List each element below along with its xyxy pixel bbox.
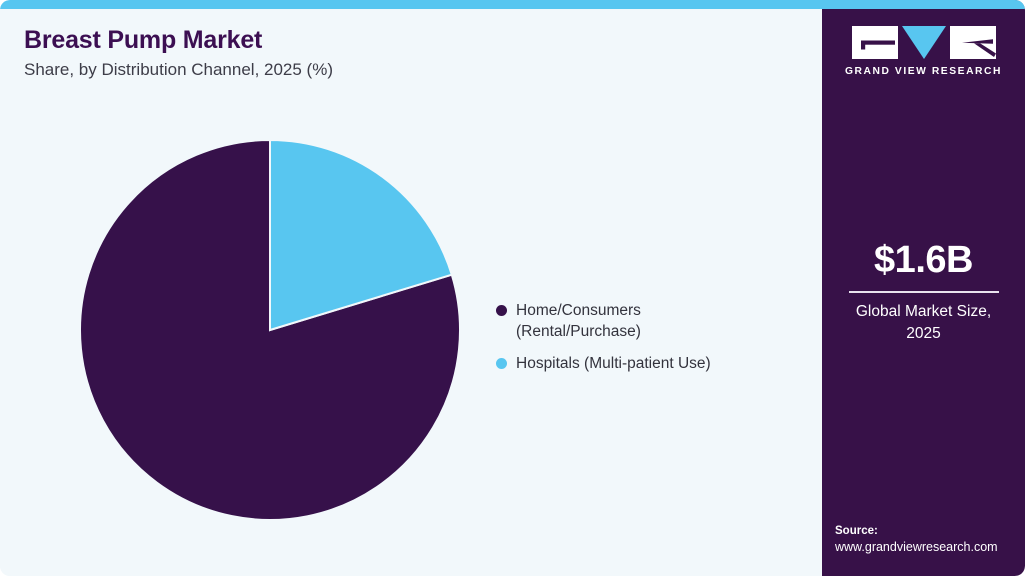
source-url[interactable]: www.grandviewresearch.com <box>835 539 1025 556</box>
top-accent-bar <box>0 0 1025 9</box>
stat-value: $1.6B <box>822 238 1025 282</box>
chart-card: Breast Pump Market Share, by Distributio… <box>0 0 1025 576</box>
v-mark-icon <box>902 26 946 59</box>
pie-chart <box>80 140 460 520</box>
legend-dot-icon <box>496 358 507 369</box>
page-title: Breast Pump Market <box>24 26 262 55</box>
legend-dot-icon <box>496 305 507 316</box>
chart-main-area: Breast Pump Market Share, by Distributio… <box>0 9 822 576</box>
legend-item-hospitals[interactable]: Hospitals (Multi-patient Use) <box>496 353 796 374</box>
r-mark-icon <box>950 26 996 59</box>
stat-divider <box>849 291 999 293</box>
legend-item-label: Hospitals (Multi-patient Use) <box>516 353 711 374</box>
brand-sidebar: GRAND VIEW RESEARCH $1.6B Global Market … <box>822 0 1025 576</box>
market-size-stat: $1.6B Global Market Size, 2025 <box>822 238 1025 345</box>
logo-marks <box>822 26 1025 59</box>
legend-item-label: Home/Consumers (Rental/Purchase) <box>516 300 641 342</box>
legend-item-home-consumers[interactable]: Home/Consumers (Rental/Purchase) <box>496 300 796 342</box>
source-block: Source: www.grandviewresearch.com <box>835 523 1025 556</box>
chart-legend: Home/Consumers (Rental/Purchase) Hospita… <box>496 300 796 385</box>
stat-caption: Global Market Size, 2025 <box>822 301 1025 345</box>
g-mark-icon <box>852 26 898 59</box>
page-subtitle: Share, by Distribution Channel, 2025 (%) <box>24 60 333 80</box>
brand-logo: GRAND VIEW RESEARCH <box>822 26 1025 77</box>
pie-chart-svg <box>80 140 460 520</box>
source-label: Source: <box>835 523 1025 539</box>
brand-wordmark: GRAND VIEW RESEARCH <box>822 66 1025 77</box>
